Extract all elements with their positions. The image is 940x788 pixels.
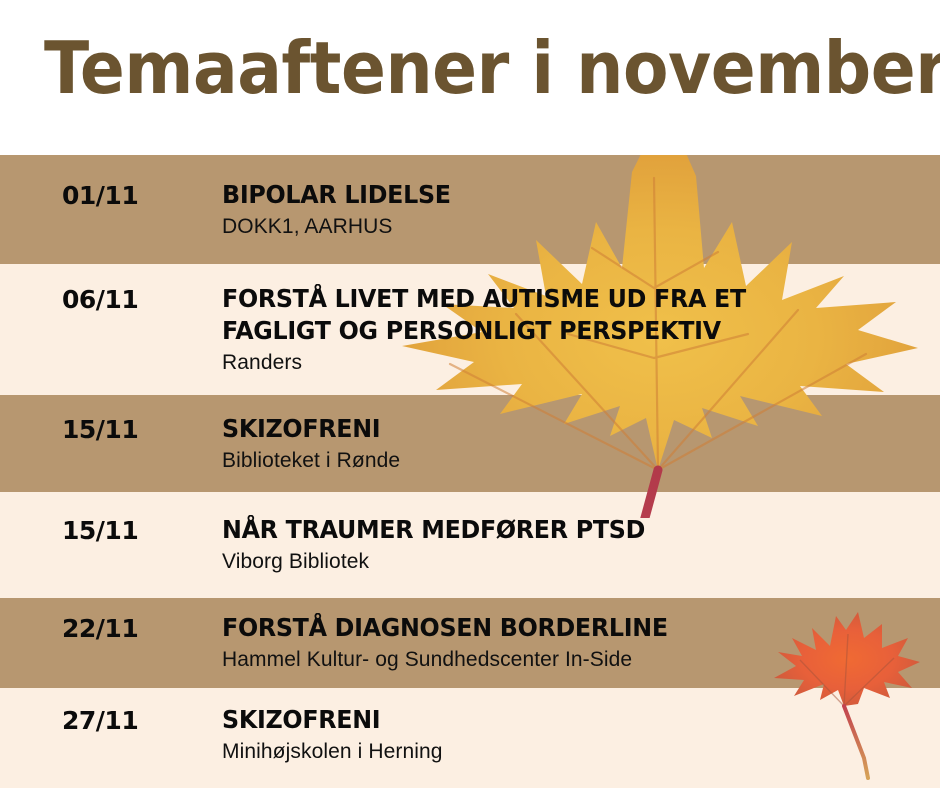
event-title: BIPOLAR LIDELSE: [222, 179, 887, 211]
event-title: NÅR TRAUMER MEDFØRER PTSD: [222, 514, 887, 546]
schedule-list: 01/11 BIPOLAR LIDELSE DOKK1, AARHUS 06/1…: [0, 155, 940, 788]
page-title: Temaaftener i november: [44, 26, 940, 110]
event-location: Hammel Kultur- og Sundhedscenter In-Side: [222, 646, 922, 674]
table-row[interactable]: 15/11 NÅR TRAUMER MEDFØRER PTSD Viborg B…: [0, 492, 940, 598]
event-title: FORSTÅ DIAGNOSEN BORDERLINE: [222, 612, 887, 644]
event-location: Minihøjskolen i Herning: [222, 738, 922, 766]
table-row[interactable]: 22/11 FORSTÅ DIAGNOSEN BORDERLINE Hammel…: [0, 598, 940, 688]
event-date: 15/11: [62, 415, 138, 444]
event-location: Biblioteket i Rønde: [222, 447, 922, 475]
table-row[interactable]: 15/11 SKIZOFRENI Biblioteket i Rønde: [0, 395, 940, 492]
event-location: DOKK1, AARHUS: [222, 213, 922, 241]
event-date: 15/11: [62, 516, 138, 545]
event-title: FORSTÅ LIVET MED AUTISME UD FRA ET FAGLI…: [222, 283, 887, 347]
event-title: SKIZOFRENI: [222, 704, 887, 736]
table-row[interactable]: 27/11 SKIZOFRENI Minihøjskolen i Herning: [0, 688, 940, 788]
table-row[interactable]: 06/11 FORSTÅ LIVET MED AUTISME UD FRA ET…: [0, 264, 940, 395]
poster: Temaaftener i november: [0, 0, 940, 788]
table-row[interactable]: 01/11 BIPOLAR LIDELSE DOKK1, AARHUS: [0, 155, 940, 264]
event-location: Viborg Bibliotek: [222, 548, 922, 576]
event-date: 01/11: [62, 181, 138, 210]
event-location: Randers: [222, 349, 922, 377]
title-area: Temaaftener i november: [0, 0, 940, 155]
event-title: SKIZOFRENI: [222, 413, 887, 445]
event-date: 22/11: [62, 614, 138, 643]
event-date: 06/11: [62, 285, 138, 314]
event-date: 27/11: [62, 706, 138, 735]
